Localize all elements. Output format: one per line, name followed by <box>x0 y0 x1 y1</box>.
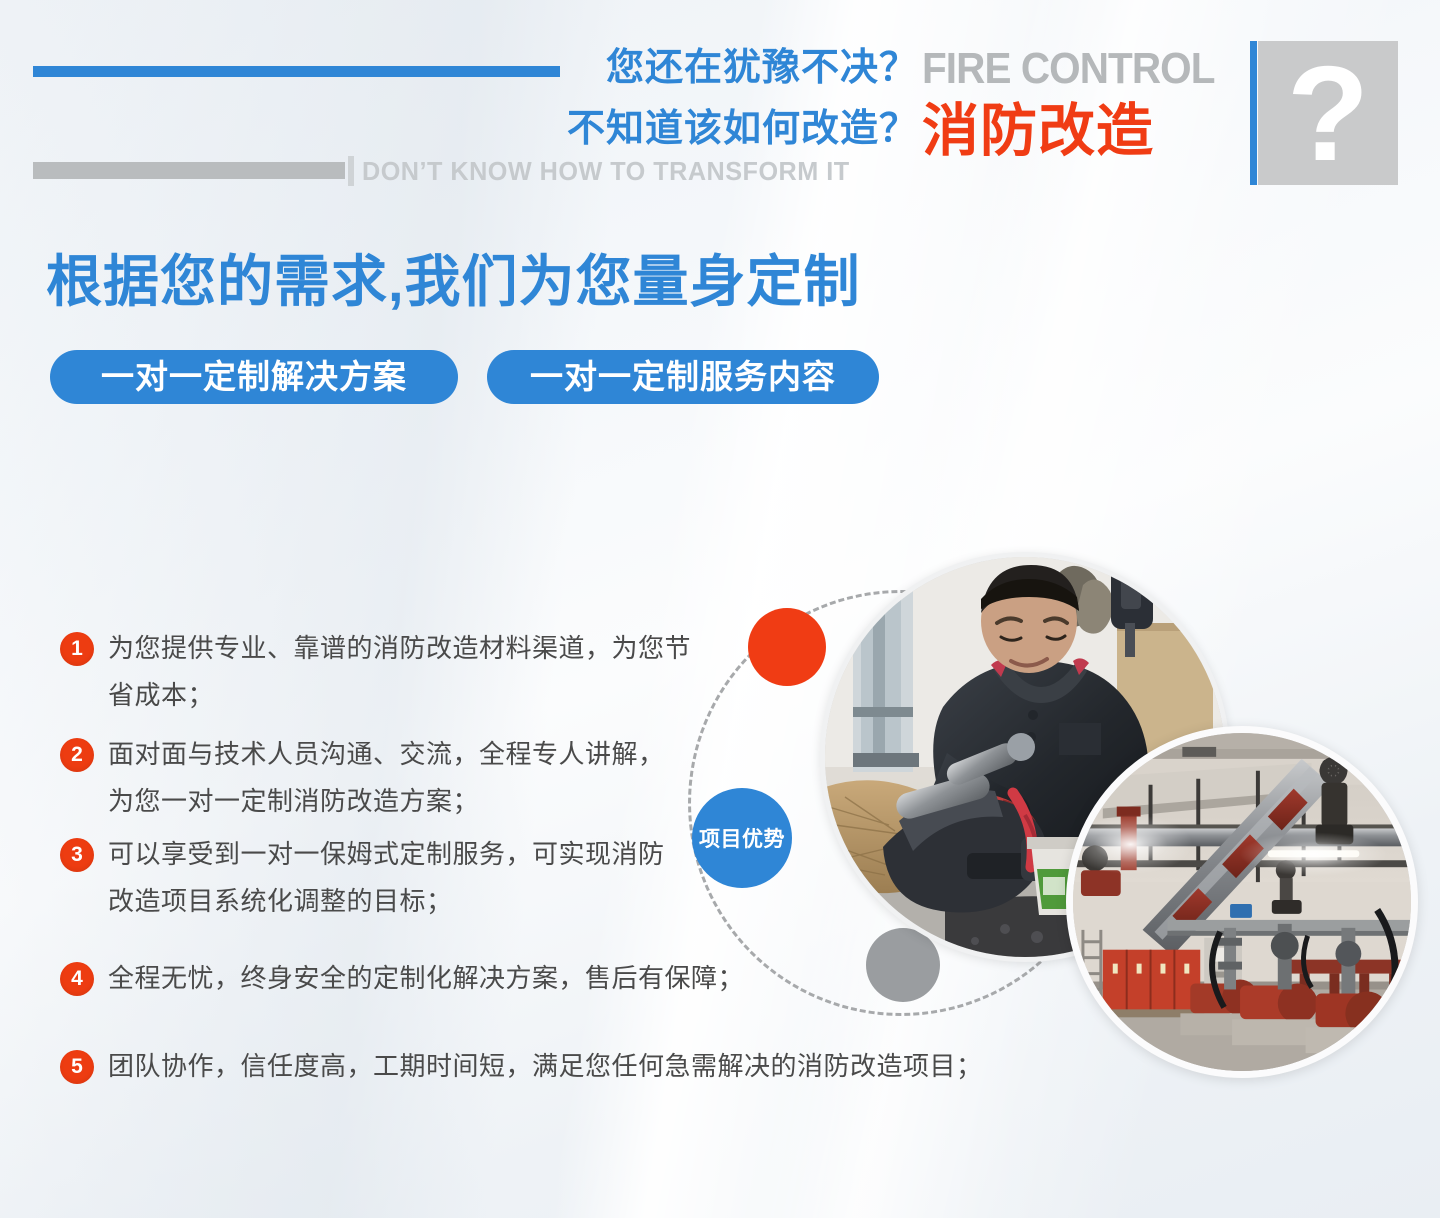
header-question-line1: 您还在犹豫不决？ <box>560 42 918 94</box>
list-item-label: 全程无忧，终身安全的定制化解决方案，售后有保障； <box>108 955 868 1002</box>
header-gray-rule <box>33 162 345 179</box>
fire-pump-room-piping-photo <box>1066 726 1418 1078</box>
promo-page: 您还在犹豫不决？ 不知道该如何改造？ FIRE CONTROL 消防改造 DON… <box>0 0 1440 1218</box>
question-box-accent-bar <box>1250 41 1257 185</box>
page-title: 根据您的需求,我们为您量身定制 <box>46 247 861 317</box>
list-item-number: 1 <box>60 632 94 666</box>
header-subtitle-bar <box>348 156 354 186</box>
question-mark-icon: ? <box>1258 41 1398 185</box>
header-brand-cn: 消防改造 <box>922 97 1154 165</box>
tag-custom-solution[interactable]: 一对一定制解决方案 <box>50 350 458 404</box>
list-item-label: 团队协作，信任度高，工期时间短，满足您任何急需解决的消防改造项目； <box>108 1043 1068 1090</box>
list-item-number: 4 <box>60 962 94 996</box>
list-item-label: 为您提供专业、靠谱的消防改造材料渠道，为您节省成本； <box>108 625 698 719</box>
list-item-label: 可以享受到一对一保姆式定制服务，可实现消防改造项目系统化调整的目标； <box>108 831 688 925</box>
header-brand-en: FIRE CONTROL <box>922 44 1215 94</box>
list-item-number: 3 <box>60 838 94 872</box>
header-blue-rule <box>33 66 560 77</box>
list-item-number: 5 <box>60 1050 94 1084</box>
header-subtitle-en: DON’T KNOW HOW TO TRANSFORM IT <box>362 155 850 187</box>
gray-dot-decoration <box>866 928 940 1002</box>
tag-custom-service[interactable]: 一对一定制服务内容 <box>487 350 879 404</box>
orange-dot-decoration <box>748 608 826 686</box>
list-item-label: 面对面与技术人员沟通、交流，全程专人讲解，为您一对一定制消防改造方案； <box>108 731 668 825</box>
project-advantage-badge: 项目优势 <box>692 788 792 888</box>
list-item-number: 2 <box>60 738 94 772</box>
header-question-line2: 不知道该如何改造？ <box>520 103 918 155</box>
